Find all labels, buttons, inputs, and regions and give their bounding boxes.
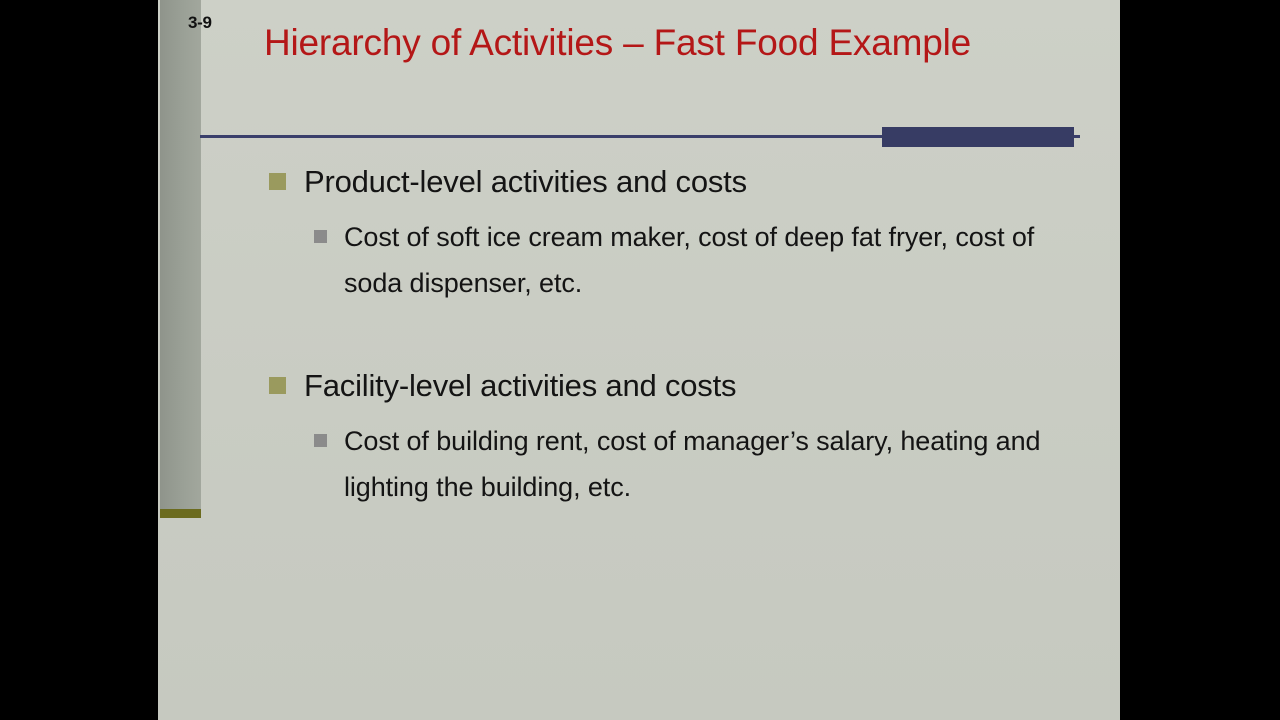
bullet-level2-label: Cost of building rent, cost of manager’s… [344,426,1040,502]
screen: 3-9 Hierarchy of Activities – Fast Food … [0,0,1280,720]
bullet-item-level2: Cost of soft ice cream maker, cost of de… [158,214,1070,306]
slide-body: Product-level activities and costs Cost … [158,160,1120,510]
bullet-item-level2: Cost of building rent, cost of manager’s… [158,418,1070,510]
bullet-level1-label: Product-level activities and costs [304,164,747,199]
bullet-item-level1: Product-level activities and costs [158,160,1120,204]
square-bullet-icon [269,173,286,190]
bullet-level1-label: Facility-level activities and costs [304,368,736,403]
presentation-slide: 3-9 Hierarchy of Activities – Fast Food … [158,0,1120,720]
sidebar-accent-cap [160,509,201,518]
square-subbullet-icon [314,434,327,447]
slide-number: 3-9 [188,13,212,33]
bullet-level2-label: Cost of soft ice cream maker, cost of de… [344,222,1034,298]
slide-title: Hierarchy of Activities – Fast Food Exam… [264,16,1004,69]
section-spacer [158,306,1120,364]
square-subbullet-icon [314,230,327,243]
bullet-item-level1: Facility-level activities and costs [158,364,1120,408]
title-accent-block [882,127,1074,147]
square-bullet-icon [269,377,286,394]
